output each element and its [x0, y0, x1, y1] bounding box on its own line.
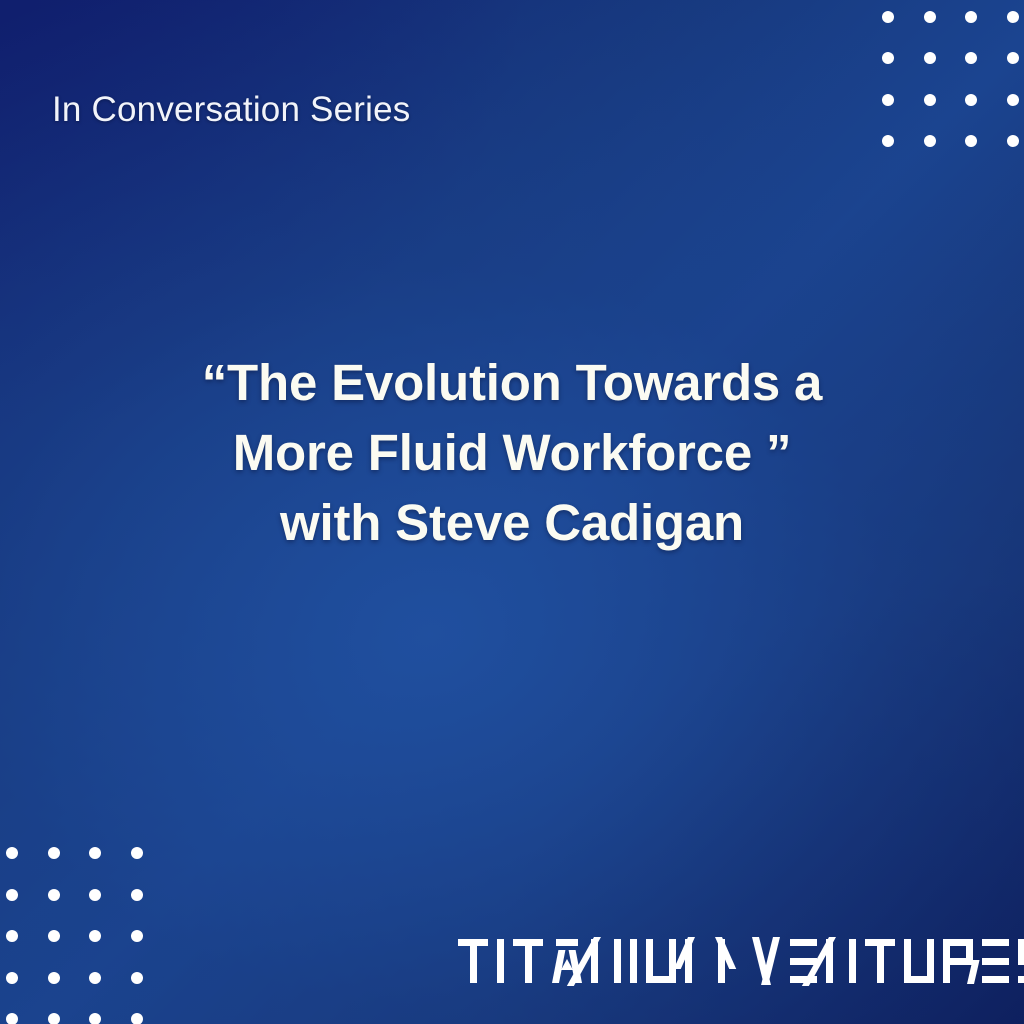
dot — [6, 847, 18, 859]
dot — [924, 11, 936, 23]
dot — [131, 930, 143, 942]
titanium-ventures-logo — [458, 931, 1024, 983]
dot — [965, 11, 977, 23]
dot — [89, 847, 101, 859]
letter-m — [685, 939, 725, 983]
dot — [131, 1013, 143, 1024]
letter-r — [943, 939, 973, 983]
headline-line-2: More Fluid Workforce ” — [0, 418, 1024, 488]
dot — [924, 52, 936, 64]
dot — [131, 889, 143, 901]
letter-i — [497, 939, 504, 983]
letter-v — [751, 939, 781, 983]
headline-line-1: “The Evolution Towards a — [0, 348, 1024, 418]
letter-n — [591, 939, 621, 983]
dot — [131, 972, 143, 984]
letter-t — [865, 939, 895, 983]
logo-word-ventures — [751, 939, 1024, 983]
dot — [1007, 135, 1019, 147]
dot — [48, 847, 60, 859]
dot — [882, 135, 894, 147]
dot — [882, 52, 894, 64]
headline-quote: “The Evolution Towards a More Fluid Work… — [0, 348, 1024, 558]
dot — [882, 11, 894, 23]
dot — [48, 930, 60, 942]
letter-e — [982, 939, 1009, 983]
dot — [48, 1013, 60, 1024]
logo-word-titanium — [458, 939, 725, 983]
poster-canvas: In Conversation Series “The Evolution To… — [0, 0, 1024, 1024]
letter-s — [1018, 939, 1024, 983]
letter-u — [646, 939, 676, 983]
dot — [89, 1013, 101, 1024]
letter-n — [826, 939, 856, 983]
dot — [6, 972, 18, 984]
dot — [1007, 52, 1019, 64]
dot — [89, 972, 101, 984]
dot — [48, 889, 60, 901]
dot — [1007, 94, 1019, 106]
dot — [48, 972, 60, 984]
dot — [924, 135, 936, 147]
letter-u — [904, 939, 934, 983]
letter-t — [458, 939, 488, 983]
dot — [89, 889, 101, 901]
dot — [965, 94, 977, 106]
dot-grid-top-right — [882, 0, 1024, 177]
headline-line-3: with Steve Cadigan — [0, 488, 1024, 558]
dot — [965, 52, 977, 64]
dot — [882, 94, 894, 106]
letter-i — [630, 939, 637, 983]
dot-grid-bottom-left — [6, 847, 172, 1024]
dot — [924, 94, 936, 106]
series-eyebrow-label: In Conversation Series — [52, 90, 410, 130]
dot — [6, 930, 18, 942]
letter-t — [513, 939, 543, 983]
dot — [6, 1013, 18, 1024]
dot — [1007, 11, 1019, 23]
dot — [965, 135, 977, 147]
dot — [131, 847, 143, 859]
dot — [6, 889, 18, 901]
dot — [89, 930, 101, 942]
